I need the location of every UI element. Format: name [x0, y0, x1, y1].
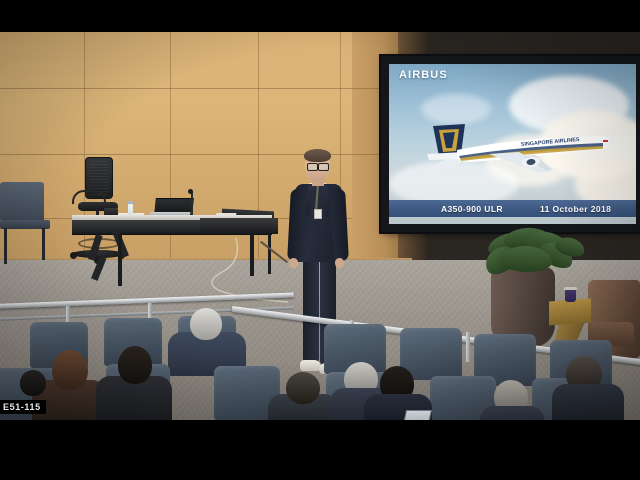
video-watermark: E51-115 — [0, 400, 46, 414]
audience-person-body — [552, 384, 624, 420]
desk-leg — [118, 234, 122, 286]
audience-person-head — [190, 308, 222, 340]
letterbox-bar-top — [0, 0, 640, 32]
coffee-cup-lid — [564, 287, 577, 290]
slide-date-label: 11 October 2018 — [540, 204, 611, 214]
microphone — [188, 189, 193, 194]
side-chair-back — [0, 182, 44, 222]
presenter-hand-left — [289, 258, 298, 268]
audience-person-head — [118, 346, 152, 384]
airbus-logo: AIRBUS — [399, 69, 448, 81]
projection-screen: AIRBUS SINGAPORE — [389, 64, 636, 224]
side-chair-leg — [42, 228, 45, 260]
presenter-shoe-left — [300, 360, 321, 371]
screenshot-root: AIRBUS SINGAPORE — [0, 0, 640, 480]
video-frame: AIRBUS SINGAPORE — [0, 32, 640, 420]
letterbox-bar-bottom — [0, 420, 640, 480]
presenter-leg-left — [303, 257, 319, 363]
eyeglasses-icon — [318, 163, 329, 171]
audience-laptop — [402, 410, 432, 420]
aircraft-illustration: SINGAPORE AIRLINES — [403, 110, 623, 188]
audience-person-body — [480, 406, 544, 420]
coffee-cup — [565, 289, 576, 302]
presenter-hair — [304, 149, 331, 162]
presenter-arm-right — [330, 189, 349, 262]
audience-person-head — [286, 372, 320, 404]
side-chair-leg — [4, 228, 7, 264]
handrail-post — [466, 332, 470, 362]
eyeglasses-icon — [307, 163, 318, 171]
desk-extension — [200, 218, 278, 234]
audience-person-head — [20, 370, 46, 396]
projection-screen-bezel: AIRBUS SINGAPORE — [381, 56, 640, 232]
side-table — [549, 299, 591, 326]
audience-person-head — [52, 350, 88, 390]
slide-caption-bar: A350-900 ULR 11 October 2018 — [389, 200, 636, 217]
badge — [314, 209, 322, 219]
chair-caster — [70, 252, 77, 259]
slide-model-label: A350-900 ULR — [441, 204, 503, 214]
presenter-hand-right — [335, 258, 344, 268]
